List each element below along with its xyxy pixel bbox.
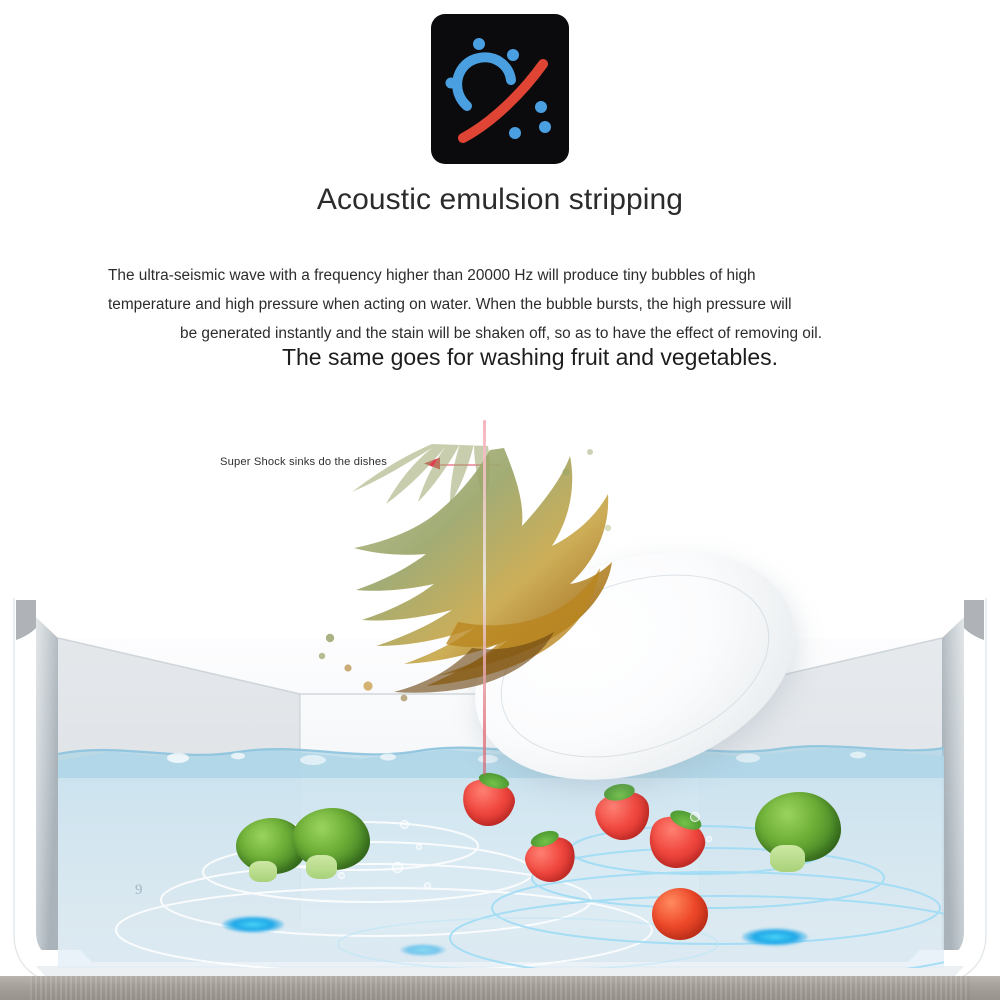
probe-rod [483, 420, 486, 775]
oil-splash-graphic [308, 442, 668, 752]
bubble-5 [690, 812, 700, 822]
led-glow-left [222, 916, 284, 933]
page-title: Acoustic emulsion stripping [0, 183, 1000, 217]
bubble-6 [706, 836, 712, 842]
product-scene: 9 [0, 420, 1000, 1000]
depth-marker: 9 [135, 882, 143, 899]
broccoli-left-2 [292, 808, 370, 870]
bubble-7 [338, 872, 345, 879]
bubble-2 [416, 844, 422, 850]
feature-description: The ultra-seismic wave with a frequency … [108, 261, 894, 348]
countertop-texture [30, 976, 970, 1000]
product-feature-page: Acoustic emulsion stripping The ultra-se… [0, 0, 1000, 1000]
countertop-base [0, 976, 1000, 1000]
acoustic-wave-icon [431, 14, 569, 164]
description-line-1: The ultra-seismic wave with a frequency … [108, 261, 894, 290]
led-glow-right [742, 928, 808, 946]
bubble-1 [400, 820, 409, 829]
broccoli-right [755, 792, 841, 862]
feature-icon-container [0, 14, 1000, 164]
emphasis-text: The same goes for washing fruit and vege… [0, 344, 1000, 371]
bubble-3 [392, 862, 403, 873]
description-line-2: temperature and high pressure when actin… [108, 290, 894, 319]
led-glow-center [400, 944, 446, 956]
bubble-4 [424, 882, 431, 889]
tomato [652, 888, 708, 940]
